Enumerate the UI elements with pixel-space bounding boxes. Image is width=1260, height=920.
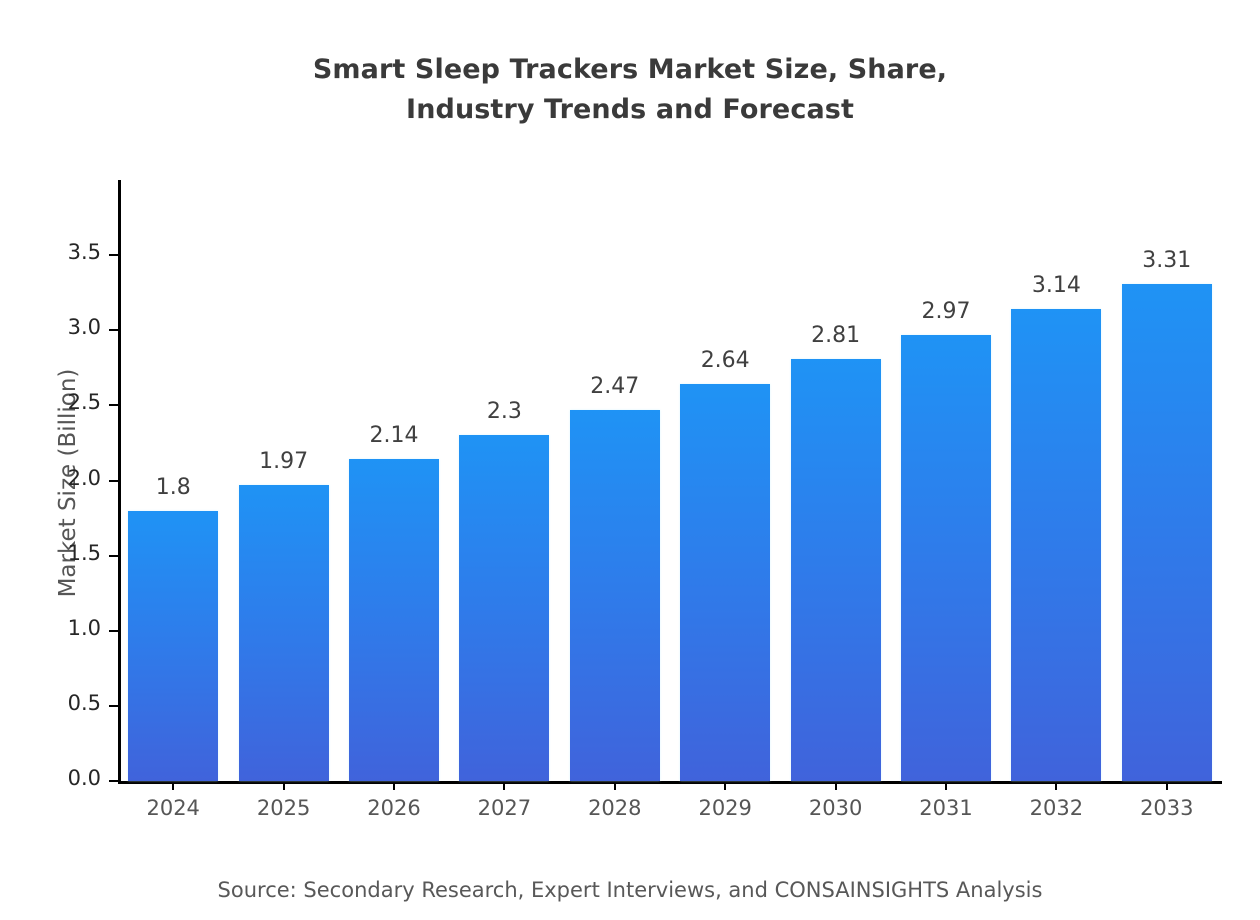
bar-value-label: 2.64 xyxy=(645,348,805,373)
y-tick-label: 2.5 xyxy=(11,390,101,414)
bar[interactable] xyxy=(128,511,218,781)
y-tick-label: 3.0 xyxy=(11,315,101,339)
bar[interactable] xyxy=(1122,284,1212,781)
x-tick-mark xyxy=(1166,781,1168,790)
x-tick-mark xyxy=(835,781,837,790)
y-tick-mark xyxy=(109,705,118,707)
bar[interactable] xyxy=(239,485,329,781)
bar-value-label: 1.97 xyxy=(204,449,364,474)
y-tick-label: 1.0 xyxy=(11,616,101,640)
bar[interactable] xyxy=(680,384,770,781)
x-tick-mark xyxy=(393,781,395,790)
source-caption: Source: Secondary Research, Expert Inter… xyxy=(0,878,1260,902)
bar-value-label: 2.3 xyxy=(424,399,584,424)
x-tick-mark xyxy=(172,781,174,790)
bar-value-label: 1.8 xyxy=(93,475,253,500)
y-tick-label: 0.0 xyxy=(11,766,101,790)
bar-value-label: 3.31 xyxy=(1087,248,1247,273)
y-tick-mark xyxy=(109,254,118,256)
y-tick-mark xyxy=(109,329,118,331)
x-tick-label: 2033 xyxy=(1097,796,1237,820)
bar-value-label: 2.47 xyxy=(535,374,695,399)
bar[interactable] xyxy=(791,359,881,781)
bar[interactable] xyxy=(570,410,660,781)
y-tick-label: 0.5 xyxy=(11,691,101,715)
y-tick-label: 1.5 xyxy=(11,541,101,565)
bar[interactable] xyxy=(901,335,991,781)
x-tick-mark xyxy=(503,781,505,790)
chart-figure: Smart Sleep Trackers Market Size, Share,… xyxy=(0,0,1260,920)
bar[interactable] xyxy=(1011,309,1101,781)
x-tick-mark xyxy=(614,781,616,790)
x-tick-mark xyxy=(283,781,285,790)
y-tick-label: 2.0 xyxy=(11,466,101,490)
y-tick-mark xyxy=(109,630,118,632)
plot-area: 0.00.51.01.52.02.53.03.5 202420252026202… xyxy=(118,180,1222,781)
y-tick-label: 3.5 xyxy=(11,240,101,264)
bar-value-label: 3.14 xyxy=(976,273,1136,298)
y-tick-mark xyxy=(109,780,118,782)
bar-value-label: 2.97 xyxy=(866,299,1026,324)
x-tick-mark xyxy=(724,781,726,790)
bar[interactable] xyxy=(459,435,549,781)
y-tick-mark xyxy=(109,555,118,557)
y-tick-mark xyxy=(109,404,118,406)
bar-value-label: 2.81 xyxy=(756,323,916,348)
bar-value-label: 2.14 xyxy=(314,423,474,448)
x-tick-mark xyxy=(1055,781,1057,790)
chart-title: Smart Sleep Trackers Market Size, Share,… xyxy=(0,50,1260,130)
x-tick-mark xyxy=(945,781,947,790)
bar[interactable] xyxy=(349,459,439,781)
